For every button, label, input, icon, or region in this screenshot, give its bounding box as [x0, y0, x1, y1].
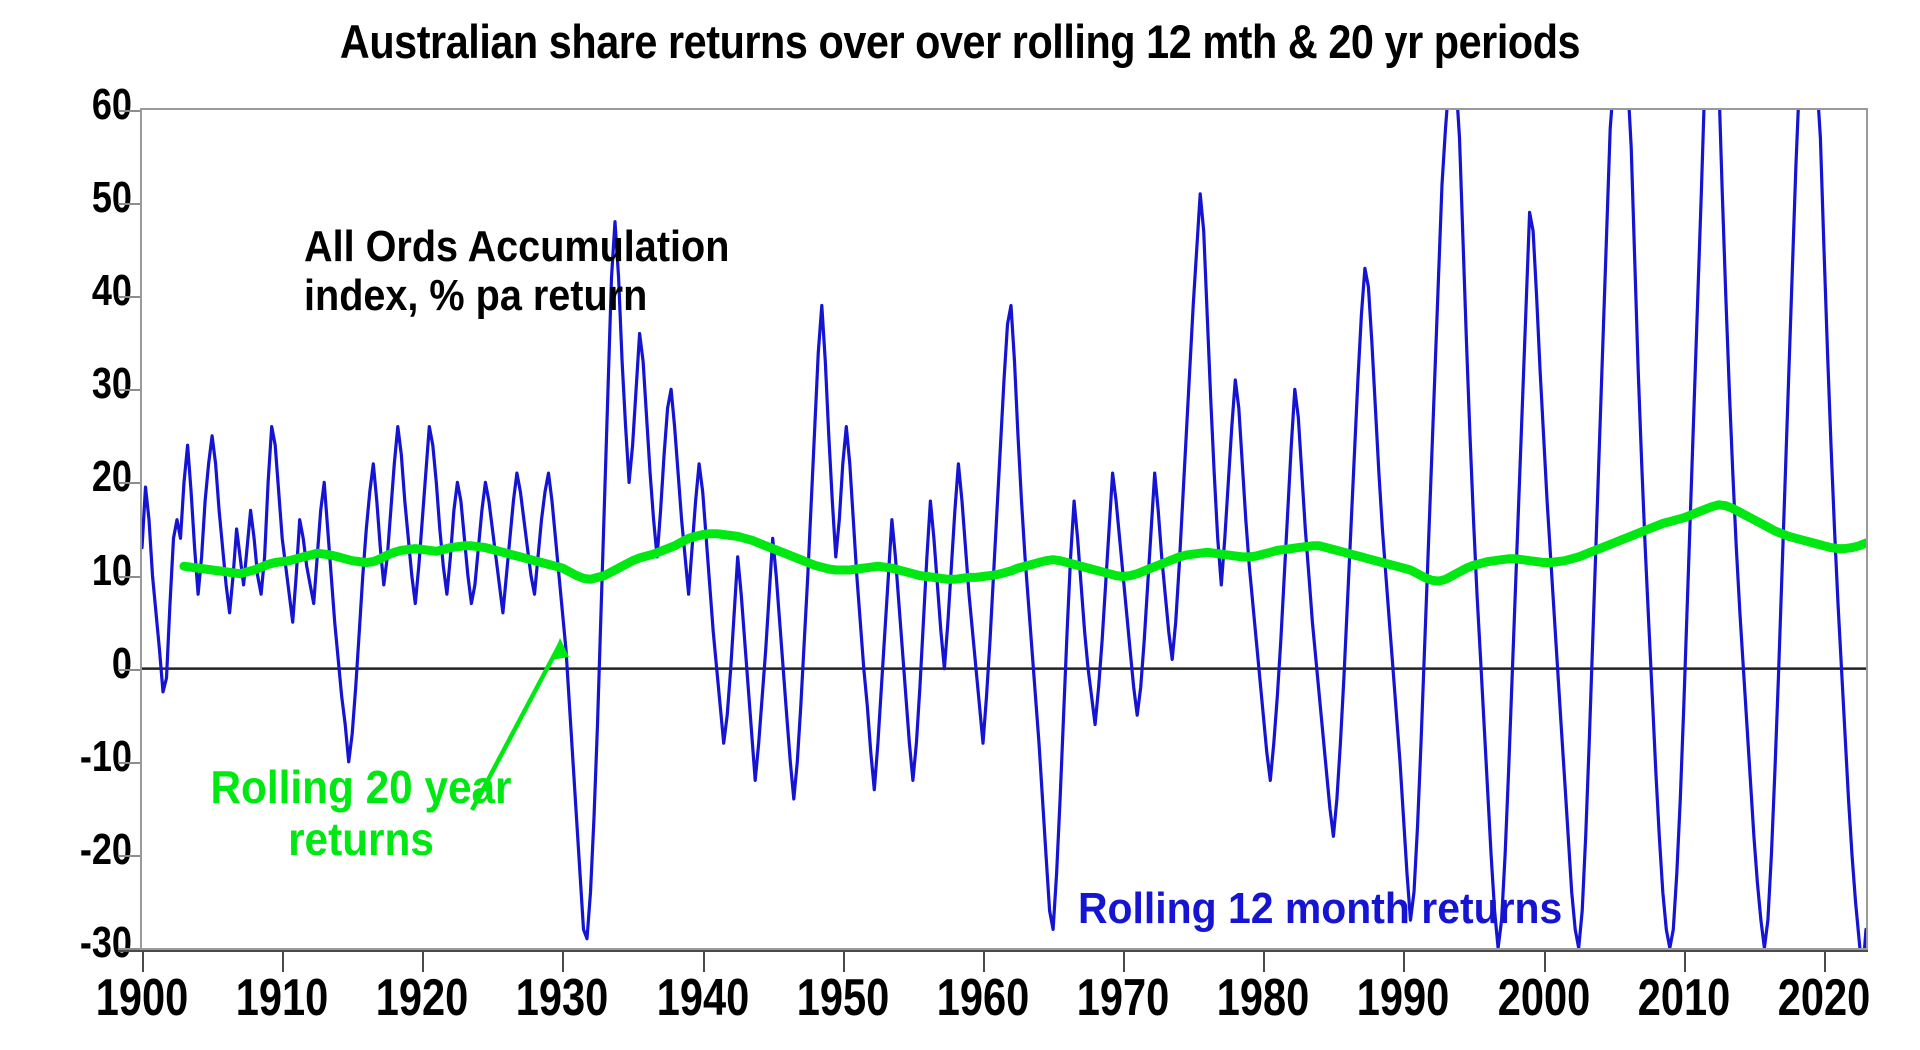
x-tick-label: 2020: [1752, 968, 1896, 1028]
y-tick-mark: [118, 576, 140, 578]
x-tick-label: 1980: [1191, 968, 1335, 1028]
subtitle-annotation: All Ords Accumulation index, % pa return: [304, 222, 729, 321]
y-tick-label: 50: [34, 173, 132, 223]
y-tick-label: -30: [34, 918, 132, 968]
y-tick-label: 10: [34, 546, 132, 596]
x-tick-label: 1940: [631, 968, 775, 1028]
x-tick-label: 1930: [490, 968, 634, 1028]
x-axis-line: [118, 950, 1868, 952]
green-series-label: Rolling 20 year returns: [163, 762, 559, 865]
page-title: Australian share returns over over rolli…: [115, 14, 1805, 69]
y-tick-mark: [118, 203, 140, 205]
y-tick-label: 20: [34, 452, 132, 502]
y-tick-mark: [118, 855, 140, 857]
y-tick-label: 0: [34, 639, 132, 689]
y-tick-mark: [118, 762, 140, 764]
chart-page: Australian share returns over over rolli…: [0, 0, 1920, 1050]
x-tick-label: 2010: [1612, 968, 1756, 1028]
x-tick-label: 1920: [350, 968, 494, 1028]
y-tick-label: 40: [34, 266, 132, 316]
y-tick-mark: [118, 296, 140, 298]
y-tick-mark: [118, 669, 140, 671]
y-tick-label: -20: [34, 825, 132, 875]
x-tick-label: 1950: [771, 968, 915, 1028]
x-tick-label: 1960: [911, 968, 1055, 1028]
blue-series-label: Rolling 12 month returns: [1078, 884, 1562, 934]
x-tick-label: 1990: [1331, 968, 1475, 1028]
y-tick-label: 60: [34, 80, 132, 130]
x-tick-label: 1970: [1051, 968, 1195, 1028]
y-tick-mark: [118, 482, 140, 484]
x-tick-label: 1910: [210, 968, 354, 1028]
y-tick-label: 30: [34, 359, 132, 409]
y-tick-label: -10: [34, 732, 132, 782]
x-tick-label: 1900: [70, 968, 214, 1028]
y-tick-mark: [118, 110, 140, 112]
x-tick-label: 2000: [1472, 968, 1616, 1028]
y-tick-mark: [118, 389, 140, 391]
